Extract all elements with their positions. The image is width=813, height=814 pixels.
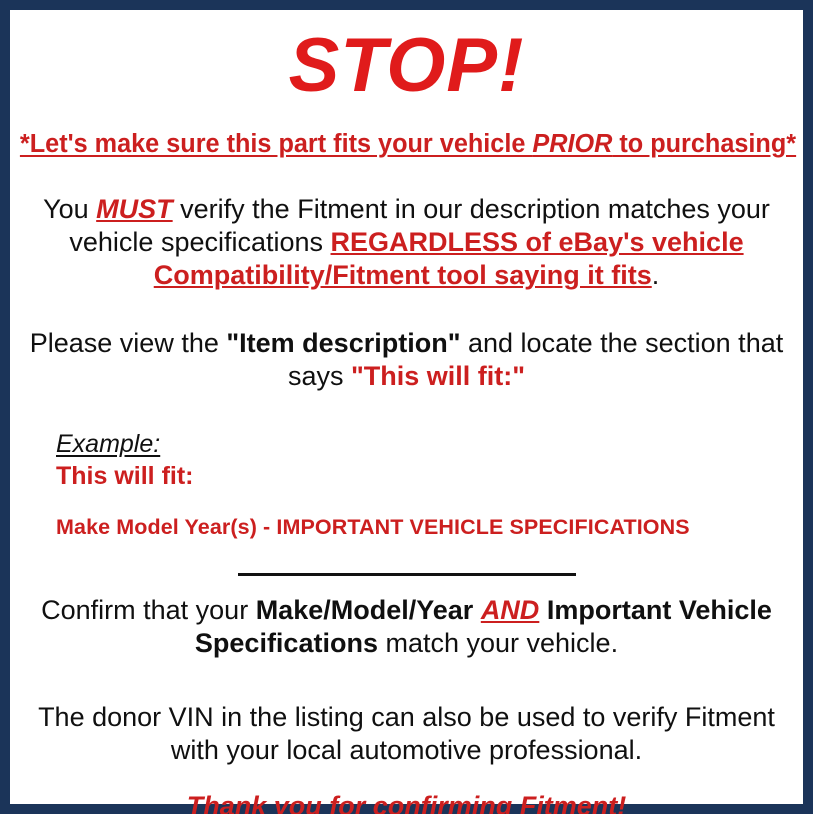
section-divider [238,573,576,576]
confirm-segment-4: match your vehicle. [378,628,618,658]
emphasis-item-description: "Item description" [226,328,460,358]
tagline: *Let's make sure this part fits your veh… [14,130,799,159]
confirm-segment-3 [539,595,547,625]
divider-row [10,566,803,580]
tagline-suffix: to purchasing* [612,130,796,158]
example-spec-line: Make Model Year(s) - IMPORTANT VEHICLE S… [56,515,803,540]
emphasis-this-will-fit: "This will fit:" [351,361,525,391]
page-title: STOP! [10,28,803,104]
emphasis-must: MUST [96,194,173,224]
paragraph-confirm: Confirm that your Make/Model/Year AND Im… [10,594,803,661]
confirm-segment-1: Confirm that your [41,595,256,625]
example-block: Example: This will fit: Make Model Year(… [10,430,803,540]
example-label: Example: [56,430,803,459]
emphasis-make-model-year: Make/Model/Year [256,595,474,625]
confirm-segment-2 [473,595,481,625]
must-segment-3: . [652,260,660,290]
paragraph-item-description: Please view the "Item description" and l… [10,327,803,394]
please-segment-1: Please view the [30,328,227,358]
closing-thank-you: Thank you for confirming Fitment! [10,790,803,814]
tagline-emphasis-prior: PRIOR [532,130,612,158]
tagline-prefix: *Let's make sure this part fits your veh… [20,130,532,158]
fitment-warning-notice: STOP! *Let's make sure this part fits yo… [0,0,813,814]
notice-content: STOP! *Let's make sure this part fits yo… [10,10,803,804]
emphasis-and: AND [481,595,540,625]
paragraph-donor-vin: The donor VIN in the listing can also be… [10,701,803,768]
example-fit-heading: This will fit: [56,461,803,491]
must-segment-1: You [43,194,96,224]
paragraph-must-verify: You MUST verify the Fitment in our descr… [10,193,803,293]
